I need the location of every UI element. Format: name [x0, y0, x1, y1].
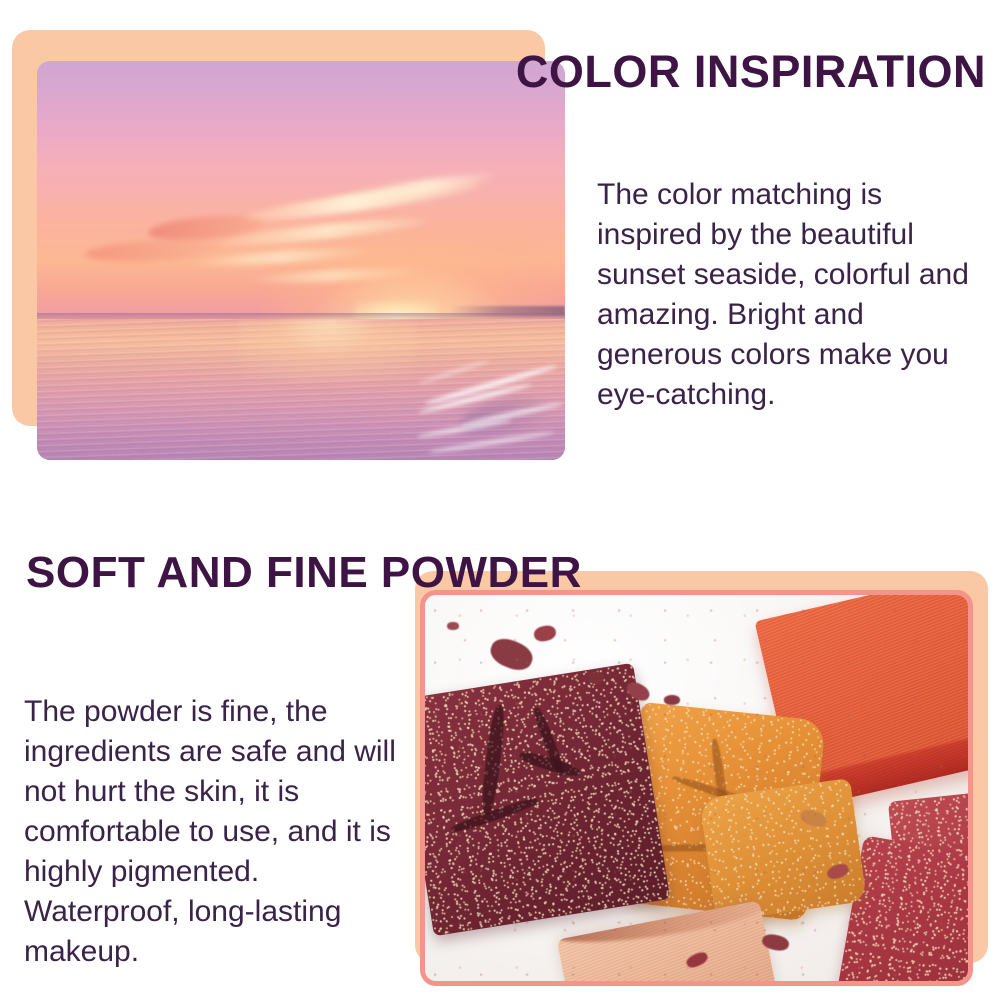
glitter-texture: [420, 663, 670, 937]
section-body-soft-and-fine-powder: The powder is fine, the ingredients are …: [24, 692, 406, 972]
section-title-soft-and-fine-powder: SOFT AND FINE POWDER: [26, 551, 582, 595]
powder-crumb: [447, 622, 459, 630]
crushed-eyeshadow-photo: [420, 590, 973, 986]
product-feature-page: COLOR INSPIRATION The color matching is …: [0, 0, 1000, 1000]
sunset-seaside-photo: [37, 61, 565, 460]
gold-shimmer-chunk-small: [700, 778, 868, 921]
section-title-color-inspiration: COLOR INSPIRATION: [516, 49, 986, 94]
sun-reflection: [238, 319, 418, 383]
powder-crumb: [588, 672, 604, 684]
burgundy-glitter-pan: [420, 663, 670, 937]
section-body-color-inspiration: The color matching is inspired by the be…: [597, 175, 987, 415]
sea-water: [37, 319, 565, 460]
glitter-texture: [700, 778, 868, 921]
